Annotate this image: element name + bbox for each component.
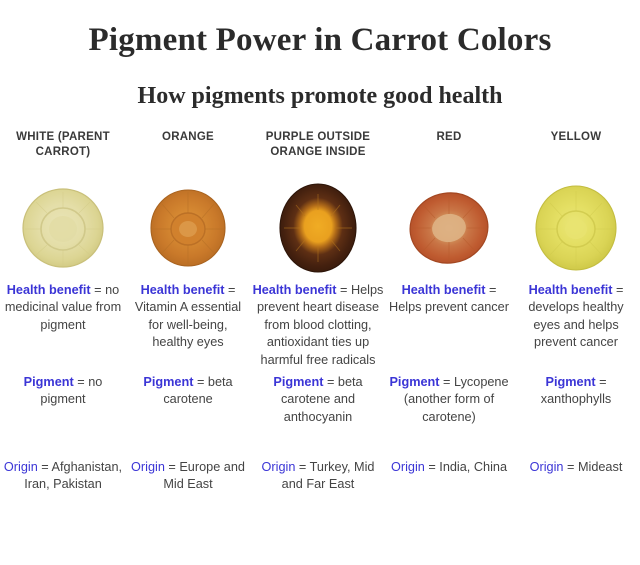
health-benefit-value: Helps prevent cancer [389,300,509,314]
equals-sign: = [165,460,179,474]
white-carrot-slice [2,182,124,274]
carrot-column-white: WHITE (PARENT CARROT) [0,130,126,494]
origin-label: Origin [4,460,38,474]
pigment-cell: Pigment = beta carotene and anthocyanin [252,374,384,459]
pigment-label: Pigment [24,375,74,389]
origin-value: India, China [439,460,507,474]
column-heading: RED [388,130,510,182]
equals-sign: = [74,375,88,389]
health-benefit-label: Health benefit [7,283,91,297]
page-title: Pigment Power in Carrot Colors [0,0,640,58]
origin-label: Origin [391,460,425,474]
column-heading: YELLOW [514,130,638,182]
equals-sign: = [224,283,235,297]
yellow-carrot-slice-graphic [533,184,619,272]
health-benefit-cell: Health benefit = Vitamin A essential for… [128,282,248,374]
orange-carrot-slice-graphic [148,187,228,269]
health-benefit-label: Health benefit [529,283,613,297]
origin-cell: Origin = Turkey, Mid and Far East [252,459,384,494]
health-benefit-label: Health benefit [402,283,486,297]
column-heading: ORANGE [128,130,248,182]
health-benefit-label: Health benefit [141,283,225,297]
health-benefit-label: Health benefit [253,283,337,297]
equals-sign: = [38,460,52,474]
purple-orange-carrot-slice [252,182,384,274]
pigment-label: Pigment [389,375,439,389]
equals-sign: = [91,283,105,297]
pigment-cell: Pigment = beta carotene [128,374,248,459]
health-benefit-value: Vitamin A essential for well-being, heal… [135,300,241,349]
origin-label: Origin [131,460,165,474]
pigment-label: Pigment [273,375,323,389]
equals-sign: = [596,375,607,389]
origin-label: Origin [530,460,564,474]
column-heading: PURPLE OUTSIDE ORANGE INSIDE [252,130,384,182]
equals-sign: = [440,375,454,389]
carrot-column-purple-orange: PURPLE OUTSIDE ORANGE INSIDE [250,130,386,494]
equals-sign: = [612,283,623,297]
pigment-value: xanthophylls [541,392,612,406]
carrot-column-yellow: YELLOW [512,130,640,494]
orange-carrot-slice [128,182,248,274]
column-heading: WHITE (PARENT CARROT) [2,130,124,182]
carrot-comparison-grid: WHITE (PARENT CARROT) [0,110,640,494]
infographic-page: { "header": { "title": "Pigment Power in… [0,0,640,565]
origin-cell: Origin = Europe and Mid East [128,459,248,494]
origin-label: Origin [262,460,296,474]
carrot-column-orange: ORANGE [126,130,250,494]
pigment-label: Pigment [143,375,193,389]
equals-sign: = [336,283,350,297]
health-benefit-cell: Health benefit = Helps prevent heart dis… [252,282,384,374]
pigment-cell: Pigment = xanthophylls [514,374,638,459]
pigment-cell: Pigment = no pigment [2,374,124,459]
equals-sign: = [323,375,337,389]
red-carrot-slice-graphic [407,188,491,268]
equals-sign: = [563,460,577,474]
equals-sign: = [295,460,309,474]
equals-sign: = [193,375,207,389]
health-benefit-cell: Health benefit = no medicinal value from… [2,282,124,374]
purple-orange-carrot-slice-graphic [276,182,360,274]
health-benefit-cell: Health benefit = Helps prevent cancer [388,282,510,374]
origin-value: Mideast [578,460,622,474]
equals-sign: = [425,460,439,474]
red-carrot-slice [388,182,510,274]
origin-cell: Origin = Afghanistan, Iran, Pakistan [2,459,124,494]
health-benefit-cell: Health benefit = develops healthy eyes a… [514,282,638,374]
carrot-column-red: RED [386,130,512,494]
pigment-label: Pigment [546,375,596,389]
page-subtitle: How pigments promote good health [0,58,640,109]
equals-sign: = [485,283,496,297]
pigment-cell: Pigment = Lycopene (another form of caro… [388,374,510,459]
health-benefit-value: develops healthy eyes and helps prevent … [528,300,623,349]
yellow-carrot-slice [514,182,638,274]
origin-cell: Origin = Mideast [514,459,638,477]
white-carrot-slice-graphic [20,186,106,270]
origin-cell: Origin = India, China [388,459,510,477]
